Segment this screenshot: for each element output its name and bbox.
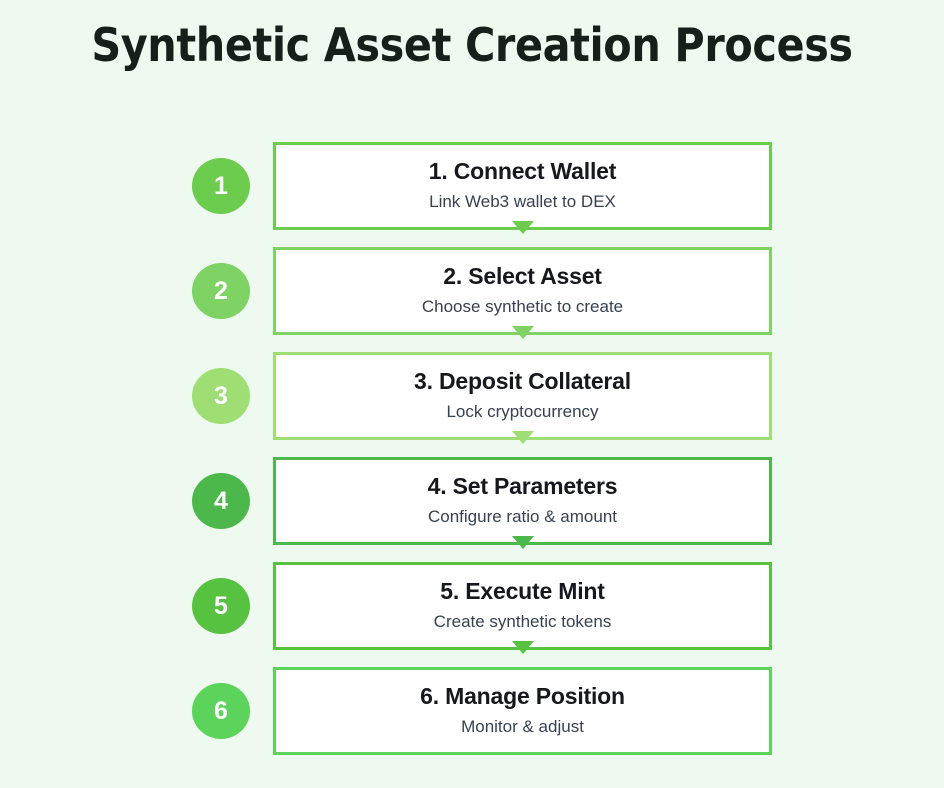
- step-number-text: 5: [214, 594, 228, 619]
- step-number-text: 4: [214, 489, 228, 514]
- step-number-badge: 3: [192, 368, 250, 424]
- step-description: Lock cryptocurrency: [446, 402, 598, 422]
- process-step-list: 11. Connect WalletLink Web3 wallet to DE…: [0, 142, 944, 755]
- step-label: 5. Execute Mint: [440, 579, 604, 605]
- flowchart-canvas: Synthetic Asset Creation Process 11. Con…: [0, 0, 944, 788]
- arrow-down-icon: [512, 431, 534, 444]
- step-number-badge: 1: [192, 158, 250, 214]
- step-description: Link Web3 wallet to DEX: [429, 192, 616, 212]
- step-number-badge: 2: [192, 263, 250, 319]
- step-description: Monitor & adjust: [461, 717, 584, 737]
- step-label: 6. Manage Position: [420, 684, 625, 710]
- step-label: 4. Set Parameters: [428, 474, 618, 500]
- step-description: Create synthetic tokens: [434, 612, 612, 632]
- arrow-down-icon: [512, 641, 534, 654]
- process-step: 44. Set ParametersConfigure ratio & amou…: [0, 457, 944, 545]
- process-step: 11. Connect WalletLink Web3 wallet to DE…: [0, 142, 944, 230]
- process-step: 33. Deposit CollateralLock cryptocurrenc…: [0, 352, 944, 440]
- step-description: Configure ratio & amount: [428, 507, 617, 527]
- arrow-down-icon: [512, 536, 534, 549]
- page-title: Synthetic Asset Creation Process: [0, 22, 944, 68]
- step-label: 1. Connect Wallet: [429, 159, 616, 185]
- step-number-badge: 5: [192, 578, 250, 634]
- arrow-down-icon: [512, 326, 534, 339]
- process-step: 22. Select AssetChoose synthetic to crea…: [0, 247, 944, 335]
- step-number-text: 6: [214, 699, 228, 724]
- step-number-text: 3: [214, 384, 228, 409]
- step-box: 1. Connect WalletLink Web3 wallet to DEX: [273, 142, 772, 230]
- step-box: 3. Deposit CollateralLock cryptocurrency: [273, 352, 772, 440]
- process-step: 66. Manage PositionMonitor & adjust: [0, 667, 944, 755]
- step-box: 4. Set ParametersConfigure ratio & amoun…: [273, 457, 772, 545]
- arrow-down-icon: [512, 221, 534, 234]
- step-box: 5. Execute MintCreate synthetic tokens: [273, 562, 772, 650]
- step-number-badge: 6: [192, 683, 250, 739]
- step-box: 6. Manage PositionMonitor & adjust: [273, 667, 772, 755]
- step-description: Choose synthetic to create: [422, 297, 623, 317]
- process-step: 55. Execute MintCreate synthetic tokens: [0, 562, 944, 650]
- step-number-badge: 4: [192, 473, 250, 529]
- step-box: 2. Select AssetChoose synthetic to creat…: [273, 247, 772, 335]
- step-label: 2. Select Asset: [443, 264, 602, 290]
- step-number-text: 1: [214, 174, 228, 199]
- step-number-text: 2: [214, 279, 228, 304]
- step-label: 3. Deposit Collateral: [414, 369, 631, 395]
